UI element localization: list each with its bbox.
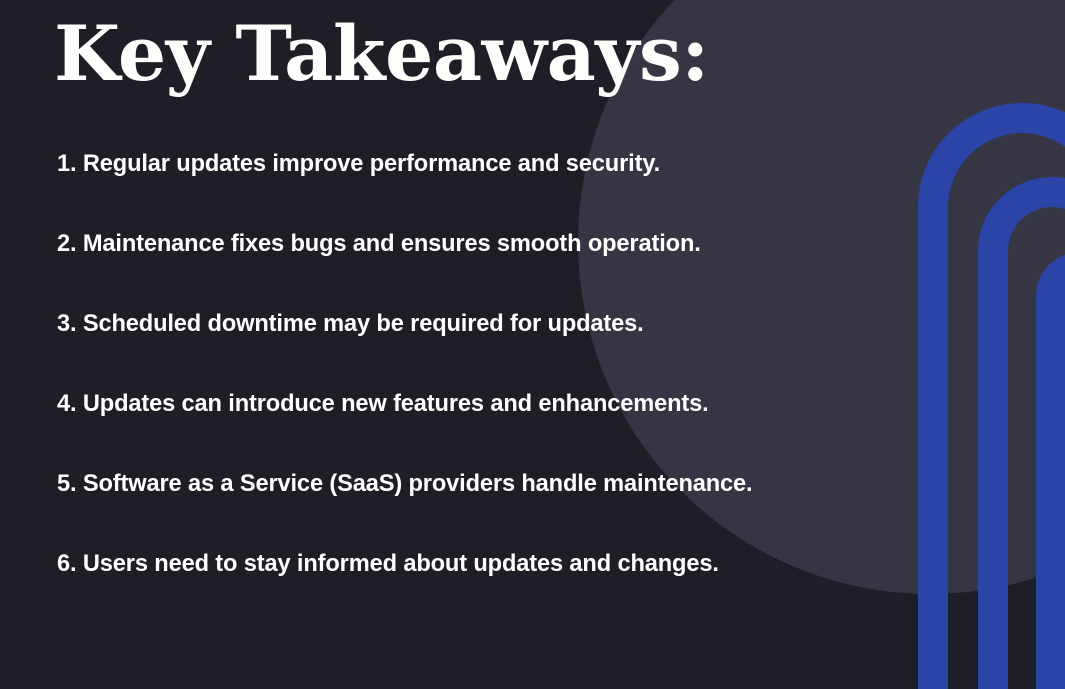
slide-canvas: Key Takeaways: 1. Regular updates improv…	[0, 0, 1065, 689]
list-item: 3. Scheduled downtime may be required fo…	[57, 312, 987, 392]
takeaway-text: 5. Software as a Service (SaaS) provider…	[57, 472, 752, 497]
takeaway-text: 2. Maintenance fixes bugs and ensures sm…	[57, 232, 701, 257]
takeaway-text: 6. Users need to stay informed about upd…	[57, 552, 719, 577]
list-item: 6. Users need to stay informed about upd…	[57, 552, 987, 632]
list-item: 5. Software as a Service (SaaS) provider…	[57, 472, 987, 552]
slide-content: Key Takeaways: 1. Regular updates improv…	[0, 0, 1065, 689]
takeaways-list: 1. Regular updates improve performance a…	[57, 152, 987, 632]
list-item: 4. Updates can introduce new features an…	[57, 392, 987, 472]
takeaway-text: 1. Regular updates improve performance a…	[57, 152, 660, 177]
takeaway-text: 4. Updates can introduce new features an…	[57, 392, 709, 417]
takeaway-text: 3. Scheduled downtime may be required fo…	[57, 312, 644, 337]
page-title: Key Takeaways:	[54, 16, 709, 92]
list-item: 2. Maintenance fixes bugs and ensures sm…	[57, 232, 987, 312]
list-item: 1. Regular updates improve performance a…	[57, 152, 987, 232]
